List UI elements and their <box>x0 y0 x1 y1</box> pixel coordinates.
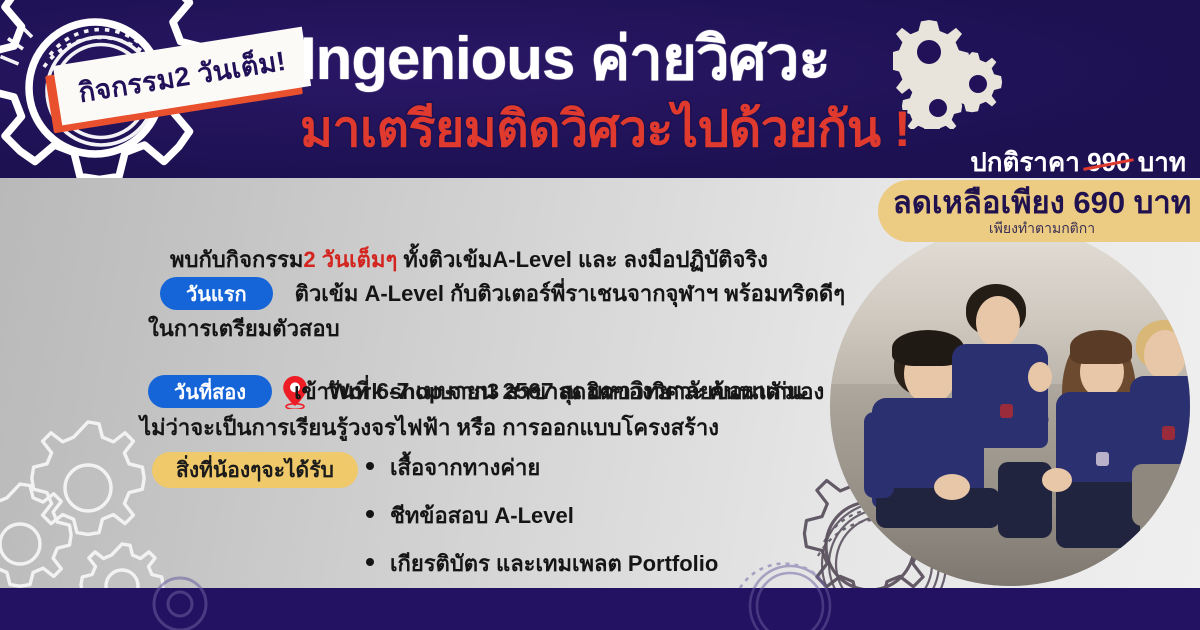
day1-continued: ในการเตรียมตัวสอบ <box>148 311 340 346</box>
ribbon-label: กิจกรรม2 วันเต็ม! <box>75 38 288 113</box>
students-group-photo <box>830 226 1190 586</box>
gifts-list: เสื้อจากทางค่าย ชีทข้อสอบ A-Level เกียรต… <box>366 450 718 588</box>
list-item: เสื้อจากทางค่าย <box>366 450 718 485</box>
bullet-icon <box>366 510 374 518</box>
gift-label: เสื้อจากทางค่าย <box>390 450 540 485</box>
gift-label: ชีทข้อสอบ A-Level <box>390 498 574 533</box>
gifts-badge: สิ่งที่น้องๆจะได้รับ <box>152 452 358 488</box>
lead-before: พบกับกิจกรรม <box>170 247 303 272</box>
day2-text: เข้าWork shop จาก3 สาขาสุดฮิตของวิศวะ ค้… <box>294 374 824 409</box>
day2-badge: วันที่สอง <box>148 375 272 408</box>
lead-text: พบกับกิจกรรม2 วันเต็มๆ ทั้งติวเข้มA-Leve… <box>170 242 768 277</box>
ribbon-badge: กิจกรรม2 วันเต็ม! <box>42 38 312 130</box>
day1-badge: วันแรก <box>160 277 273 310</box>
discount-label: ลดเหลือเพียง 690 บาท <box>893 187 1192 218</box>
day2-continued: ไม่ว่าจะเป็นการเรียนรู้วงจรไฟฟ้า หรือ กา… <box>140 410 719 445</box>
lead-highlight: 2 วันเต็มๆ <box>303 247 397 272</box>
gifts-badge-wrap: สิ่งที่น้องๆจะได้รับ <box>152 452 358 488</box>
original-price: ปกติราคา 990 บาท <box>970 142 1186 178</box>
day1-text: ติวเข้ม A-Level กับติวเตอร์พี่ราเชนจากจุ… <box>295 276 845 311</box>
day2-row: วันที่สอง เข้าWork shop จาก3 สาขาสุดฮิตข… <box>148 374 824 409</box>
body-band: วันที่ 6-7 เมษายน 2567 ณ มหาวิทยาลัยขอนแ… <box>0 178 1200 588</box>
page-subtitle: มาเตรียมติดวิศวะไปด้วยกัน ! <box>300 104 910 155</box>
bullet-icon <box>366 462 374 470</box>
bullet-icon <box>366 558 374 566</box>
original-price-prefix: ปกติราคา <box>970 147 1080 177</box>
discount-note: เพียงทำตามกติกา <box>989 221 1095 235</box>
footer-band <box>0 588 1200 630</box>
list-item: เกียรติบัตร และเทมเพลต Portfolio <box>366 546 718 581</box>
discount-badge: ลดเหลือเพียง 690 บาท เพียงทำตามกติกา <box>878 180 1200 242</box>
header-band: กิจกรรม2 วันเต็ม! Ingenious ค่ายวิศวะ มา… <box>0 0 1200 178</box>
promo-banner: กิจกรรม2 วันเต็ม! Ingenious ค่ายวิศวะ มา… <box>0 0 1200 630</box>
original-price-amount: 990 <box>1087 147 1130 178</box>
day1-row: วันแรก ติวเข้ม A-Level กับติวเตอร์พี่ราเ… <box>160 276 845 311</box>
lead-after: ทั้งติวเข้มA-Level และ ลงมือปฏิบัติจริง <box>397 247 768 272</box>
list-item: ชีทข้อสอบ A-Level <box>366 498 718 533</box>
page-title: Ingenious ค่ายวิศวะ <box>300 28 830 89</box>
original-price-suffix: บาท <box>1138 147 1186 177</box>
gift-label: เกียรติบัตร และเทมเพลต Portfolio <box>390 546 718 581</box>
